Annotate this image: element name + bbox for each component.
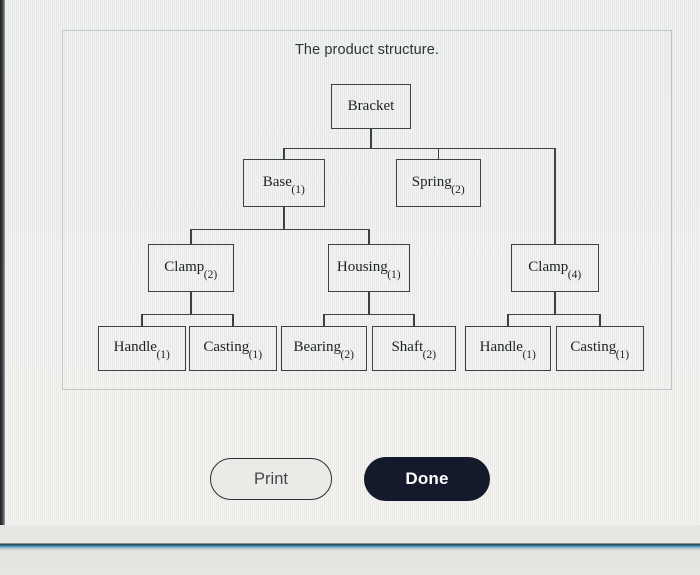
tree-node-quantity: (2) bbox=[451, 184, 464, 196]
tree-node-label: Base bbox=[263, 174, 292, 191]
button-bar: Print Done bbox=[0, 452, 700, 506]
tree-node: Handle(1) bbox=[98, 326, 186, 371]
tree-node-label: Casting bbox=[570, 339, 616, 356]
tree-node-label: Clamp bbox=[164, 259, 204, 276]
tree-node-quantity: (2) bbox=[423, 349, 436, 361]
connector-bus bbox=[324, 314, 414, 315]
tree-node-quantity: (4) bbox=[568, 269, 581, 281]
connector-bus bbox=[142, 314, 233, 315]
tree-node-label: Shaft bbox=[391, 339, 423, 356]
tree-node-quantity: (1) bbox=[156, 349, 169, 361]
tree-node-label: Handle bbox=[480, 339, 523, 356]
product-structure-tree: BracketBase(1)Spring(2)Clamp(2)Housing(1… bbox=[63, 31, 671, 389]
connector-drop bbox=[141, 314, 142, 326]
connector-drop bbox=[283, 148, 284, 159]
tree-node: Spring(2) bbox=[396, 159, 481, 207]
tree-node: Clamp(4) bbox=[511, 244, 599, 292]
print-button-label: Print bbox=[254, 470, 288, 489]
tree-node: Handle(1) bbox=[465, 326, 551, 371]
connector-drop bbox=[323, 314, 324, 326]
tree-node: Clamp(2) bbox=[148, 244, 234, 292]
print-button[interactable]: Print bbox=[210, 458, 332, 500]
connector-drop bbox=[599, 314, 600, 326]
connector-drop bbox=[368, 229, 369, 244]
connector-drop bbox=[554, 148, 555, 244]
tree-node-label: Housing bbox=[337, 259, 388, 276]
tree-node-label: Bracket bbox=[348, 98, 395, 115]
connector-bus bbox=[191, 229, 369, 230]
tree-node-quantity: (1) bbox=[387, 269, 400, 281]
connector-stem bbox=[190, 292, 191, 314]
tree-node: Housing(1) bbox=[328, 244, 410, 292]
connector-stem bbox=[368, 292, 369, 314]
connector-stem bbox=[283, 207, 284, 229]
tree-node-label: Casting bbox=[203, 339, 249, 356]
bottom-chrome-band bbox=[0, 525, 700, 575]
connector-drop bbox=[232, 314, 233, 326]
tree-node-label: Bearing bbox=[294, 339, 341, 356]
tree-node-label: Handle bbox=[114, 339, 157, 356]
tree-node-label: Clamp bbox=[528, 259, 568, 276]
tree-node-quantity: (1) bbox=[249, 349, 262, 361]
tree-node-quantity: (2) bbox=[341, 349, 354, 361]
connector-stem bbox=[554, 292, 555, 314]
tree-node-label: Spring bbox=[412, 174, 452, 191]
connector-drop bbox=[190, 229, 191, 244]
connector-bus bbox=[284, 148, 555, 149]
diagram-panel: The product structure. BracketBase(1)Spr… bbox=[62, 30, 672, 390]
tree-node-quantity: (2) bbox=[204, 269, 217, 281]
connector-stem bbox=[370, 129, 371, 148]
tree-node-quantity: (1) bbox=[291, 184, 304, 196]
tree-node: Shaft(2) bbox=[372, 326, 456, 371]
connector-drop bbox=[413, 314, 414, 326]
tree-node: Casting(1) bbox=[556, 326, 644, 371]
connector-drop bbox=[507, 314, 508, 326]
tree-node: Base(1) bbox=[243, 159, 325, 207]
tree-node: Bearing(2) bbox=[281, 326, 367, 371]
connector-drop bbox=[438, 148, 439, 159]
tree-node: Bracket bbox=[331, 84, 411, 129]
tree-node: Casting(1) bbox=[189, 326, 277, 371]
done-button[interactable]: Done bbox=[364, 457, 490, 501]
done-button-label: Done bbox=[405, 469, 448, 489]
left-bezel-strip bbox=[0, 0, 5, 525]
tree-node-quantity: (1) bbox=[522, 349, 535, 361]
tree-node-quantity: (1) bbox=[616, 349, 629, 361]
connector-bus bbox=[508, 314, 600, 315]
